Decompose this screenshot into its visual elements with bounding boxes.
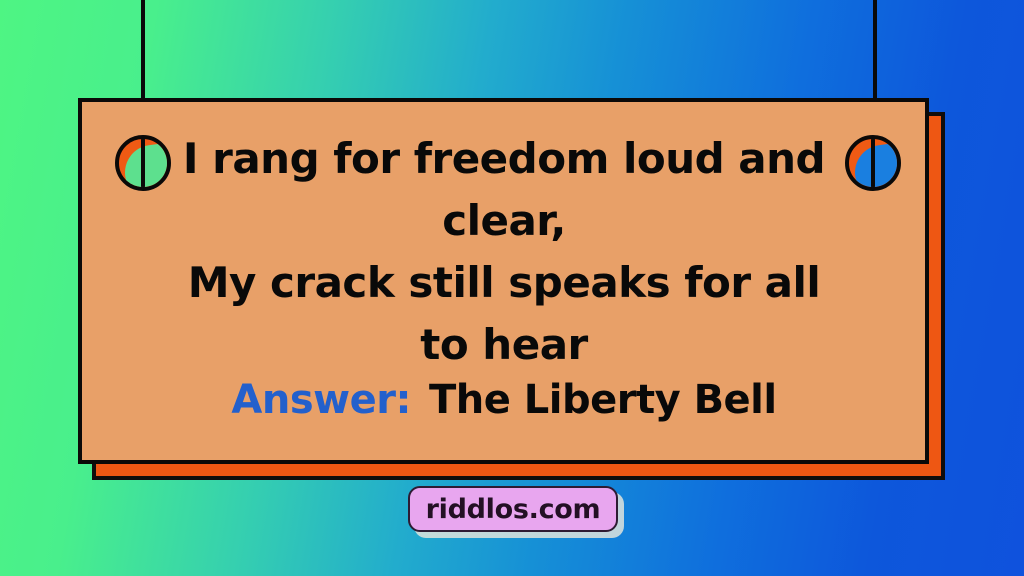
riddle-answer: Answer:The Liberty Bell <box>100 375 908 425</box>
site-badge-label[interactable]: riddlos.com <box>408 486 618 532</box>
site-badge[interactable]: riddlos.com <box>408 486 624 538</box>
riddle-line: to hear <box>100 314 908 376</box>
riddle-line: My crack still speaks for all <box>100 252 908 314</box>
riddle-question-text: I rang for freedom loud and clear, My cr… <box>100 128 908 376</box>
riddle-line: clear, <box>100 190 908 252</box>
riddle-card-canvas: I rang for freedom loud and clear, My cr… <box>0 0 1024 576</box>
answer-label: Answer: <box>231 377 411 423</box>
answer-value: The Liberty Bell <box>429 377 777 423</box>
riddle-line: I rang for freedom loud and <box>100 128 908 190</box>
